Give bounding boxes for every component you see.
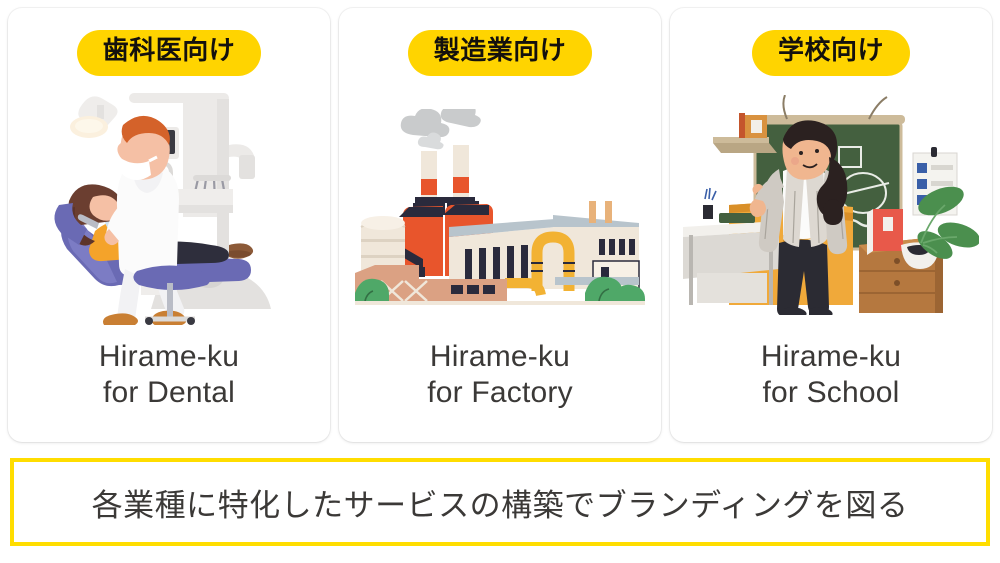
service-cards-row: 歯科医向け <box>8 8 992 442</box>
factory-illustration <box>339 76 661 339</box>
dental-clinic-graphic <box>33 93 305 325</box>
slide-canvas: 歯科医向け <box>0 0 1000 563</box>
summary-banner-text: 各業種に特化したサービスの構築でブランディングを図る <box>92 480 909 525</box>
card-title-dental: Hirame-ku for Dental <box>99 339 239 442</box>
summary-banner: 各業種に特化したサービスの構築でブランディングを図る <box>10 458 990 546</box>
card-title-line2: for Dental <box>99 375 239 412</box>
card-title-line2: for School <box>761 375 901 412</box>
service-card-school[interactable]: 学校向け <box>670 8 992 442</box>
card-title-line1: Hirame-ku <box>430 340 570 373</box>
service-card-dental[interactable]: 歯科医向け <box>8 8 330 442</box>
card-badge-school: 学校向け <box>752 30 910 76</box>
card-badge-dental: 歯科医向け <box>77 30 262 76</box>
service-card-factory[interactable]: 製造業向け <box>339 8 661 442</box>
card-title-line2: for Factory <box>427 375 573 412</box>
card-title-line1: Hirame-ku <box>99 340 239 373</box>
factory-graphic <box>355 109 645 309</box>
card-title-factory: Hirame-ku for Factory <box>427 339 573 442</box>
school-classroom-illustration <box>670 76 992 339</box>
card-badge-factory: 製造業向け <box>408 30 593 76</box>
card-title-school: Hirame-ku for School <box>761 339 901 442</box>
dental-clinic-illustration <box>8 76 330 339</box>
card-title-line1: Hirame-ku <box>761 340 901 373</box>
school-classroom-graphic <box>683 95 979 323</box>
